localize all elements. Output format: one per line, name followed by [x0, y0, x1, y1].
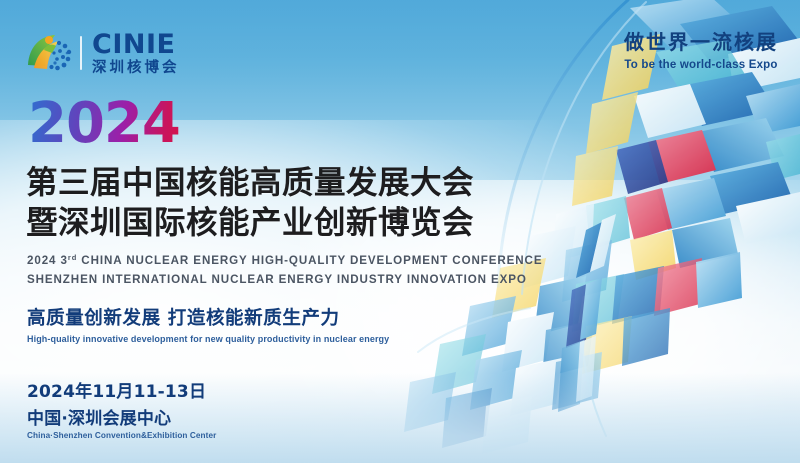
tagline-en: To be the world-class Expo — [624, 59, 778, 71]
tagline: 做世界一流核展 To be the world-class Expo — [624, 26, 778, 71]
event-venue-en: China·Shenzhen Convention&Exhibition Cen… — [27, 431, 216, 440]
subtitle-prefix: 2024 3 — [27, 254, 68, 267]
subtitle-en: 2024 3rd CHINA NUCLEAR ENERGY HIGH-QUALI… — [27, 252, 542, 290]
slogan-cn: 高质量创新发展 打造核能新质生产力 — [27, 304, 389, 330]
event-date: 2024年11月11-13日 — [27, 377, 216, 402]
page-title: 第三届中国核能高质量发展大会 暨深圳国际核能产业创新博览会 — [26, 163, 474, 244]
slogan-en: High-quality innovative development for … — [27, 334, 389, 344]
logo-divider — [80, 36, 82, 70]
title-line-2: 暨深圳国际核能产业创新博览会 — [26, 203, 474, 243]
event-venue-cn: 中国·深圳会展中心 — [27, 404, 216, 429]
cinie-logo[interactable]: CINIE 深圳核博会 — [24, 28, 180, 78]
tagline-cn: 做世界一流核展 — [624, 26, 778, 55]
slogan: 高质量创新发展 打造核能新质生产力 High-quality innovativ… — [27, 304, 389, 344]
logo-wordmark-cn: 深圳核博会 — [92, 61, 180, 76]
title-line-1: 第三届中国核能高质量发展大会 — [26, 163, 474, 203]
subtitle-rest: CHINA NUCLEAR ENERGY HIGH-QUALITY DEVELO… — [77, 254, 542, 267]
year-headline: 2024 — [28, 96, 180, 152]
logo-wordmark: CINIE — [92, 31, 180, 58]
cinie-leaf-globe-logo-icon — [24, 30, 72, 76]
subtitle-ordinal-suffix: rd — [68, 253, 77, 262]
subtitle-line-2: SHENZHEN INTERNATIONAL NUCLEAR ENERGY IN… — [27, 271, 542, 290]
subtitle-line-1: 2024 3rd CHINA NUCLEAR ENERGY HIGH-QUALI… — [27, 252, 542, 271]
venue-block: 2024年11月11-13日 中国·深圳会展中心 China·Shenzhen … — [27, 377, 216, 440]
event-poster: CINIE 深圳核博会 做世界一流核展 To be the world-clas… — [0, 0, 800, 463]
logo-wordmark-group: CINIE 深圳核博会 — [92, 31, 180, 76]
